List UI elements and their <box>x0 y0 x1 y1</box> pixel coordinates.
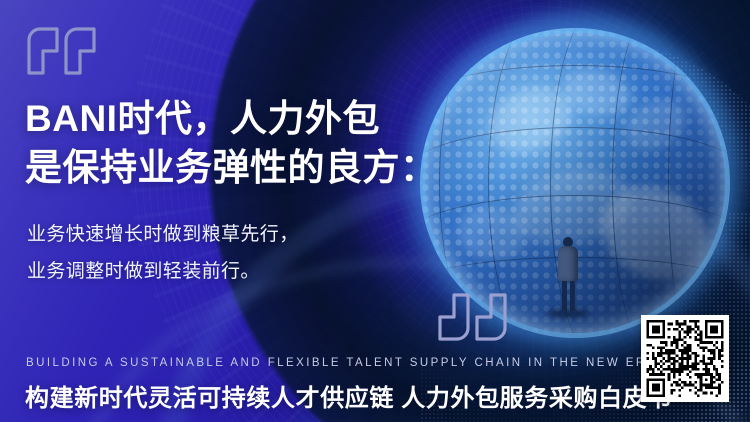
tagline-chinese: 构建新时代灵活可持续人才供应链 人力外包服务采购白皮书 <box>25 378 672 413</box>
person-leg <box>570 281 575 311</box>
person-silhouette <box>553 237 583 313</box>
qr-code[interactable] <box>641 315 729 402</box>
qr-code-matrix <box>646 320 724 397</box>
headline-line-1: BANI时代，人力外包 <box>25 94 545 143</box>
tagline-english: BUILDING A SUSTAINABLE AND FLEXIBLE TALE… <box>26 357 657 369</box>
open-quote-mark-icon <box>26 26 100 81</box>
person-leg <box>562 281 567 311</box>
close-quote-mark-icon <box>434 292 508 347</box>
headline-line-2: 是保持业务弹性的良方： <box>25 143 545 192</box>
person-coat <box>558 246 578 282</box>
poster-headline: BANI时代，人力外包 是保持业务弹性的良方： <box>25 94 545 192</box>
subtitle-line-1: 业务快速增长时做到粮草先行， <box>27 216 447 253</box>
subtitle-line-2: 业务调整时做到轻装前行。 <box>27 253 447 290</box>
whitepaper-cover-poster: BANI时代，人力外包 是保持业务弹性的良方： 业务快速增长时做到粮草先行， 业… <box>0 0 750 422</box>
person-shadow <box>547 309 589 318</box>
poster-subtitle: 业务快速增长时做到粮草先行， 业务调整时做到轻装前行。 <box>27 216 447 290</box>
